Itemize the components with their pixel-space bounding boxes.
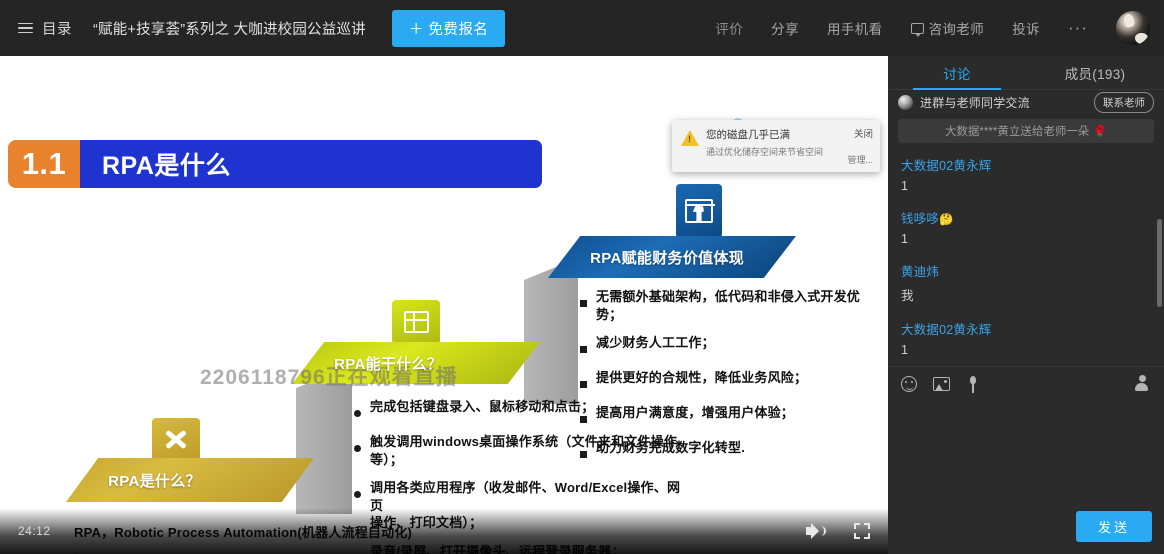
- contact-teacher-button[interactable]: 联系老师: [1094, 92, 1154, 113]
- chat-scrollbar[interactable]: [1157, 143, 1162, 366]
- bullet-text: 触发调用windows桌面操作系统（文件夹和文件操作等）；: [370, 433, 684, 468]
- free-signup-button[interactable]: ＋ 免费报名: [392, 10, 506, 47]
- ask-teacher-label: 咨询老师: [929, 18, 985, 38]
- toast-title: 您的磁盘几乎已满: [706, 127, 872, 142]
- toast-manage-button[interactable]: 管理...: [847, 153, 873, 166]
- message-author-name: 钱哆哆: [901, 212, 939, 226]
- chat-bubble-icon: [911, 23, 924, 34]
- bullet-text: 无需额外基础架构，低代码和非侵入式开发优势；: [596, 288, 880, 323]
- live-course-player-page: 目录 “赋能+技享荟”系列之 大咖进校园公益巡讲 ＋ 免费报名 评价 分享 用手…: [0, 0, 1164, 554]
- slide-title: 1.1 RPA是什么: [8, 140, 542, 188]
- top-bar-right: 评价 分享 用手机看 咨询老师 投诉 ···: [715, 11, 1150, 45]
- mention-icon[interactable]: [1134, 375, 1152, 393]
- building-icon-tile: [392, 300, 440, 344]
- bullet-text: 减少财务人工工作；: [596, 334, 715, 352]
- bullet-item: 完成包括键盘录入、鼠标移动和点击；: [354, 398, 684, 422]
- image-icon[interactable]: [932, 375, 950, 393]
- step-label: RPA是什么？: [66, 470, 201, 491]
- disk-full-toast[interactable]: 您的磁盘几乎已满 通过优化储存空间来节省空间 关闭 管理...: [672, 120, 880, 172]
- compose-footer: 发送: [900, 511, 1152, 542]
- message-input[interactable]: [900, 401, 1152, 511]
- tab-members[interactable]: 成员(193): [1026, 56, 1164, 89]
- top-bar-left: 目录 “赋能+技享荟”系列之 大咖进校园公益巡讲 ＋ 免费报名: [18, 10, 505, 47]
- bullet-text: 完成包括键盘录入、鼠标移动和点击；: [370, 398, 594, 416]
- mobile-view-link[interactable]: 用手机看: [827, 18, 883, 38]
- chat-panel: 讨论 成员(193) 进群与老师同学交流 联系老师 大数据****黄立送给老师一…: [888, 56, 1164, 554]
- upload-icon-tile: [676, 184, 722, 238]
- message-text: 1: [901, 343, 1151, 357]
- message-text: 1: [901, 232, 1151, 246]
- message-author: 黄迪炜: [901, 261, 1151, 280]
- gift-text: 大数据****黄立送给老师一朵: [945, 123, 1089, 139]
- complain-link[interactable]: 投诉: [1012, 18, 1040, 38]
- ask-teacher-link[interactable]: 咨询老师: [911, 18, 985, 38]
- avatar[interactable]: [1116, 11, 1150, 45]
- step-rpa-what: RPA是什么？: [66, 458, 314, 502]
- square-bullet-icon: [580, 375, 596, 393]
- video-stage[interactable]: 1.1 RPA是什么 RPA是什: [0, 56, 888, 554]
- rose-icon: 🌹: [1093, 125, 1107, 138]
- compose-toolbar: [900, 375, 1152, 393]
- message-author: 钱哆哆🤔: [901, 208, 1151, 227]
- send-button[interactable]: 发送: [1076, 511, 1152, 542]
- course-title: “赋能+技享荟”系列之 大咖进校园公益巡讲: [93, 18, 366, 39]
- catalog-button[interactable]: 目录: [42, 18, 72, 39]
- list-item: 大数据02黄永辉 1: [901, 155, 1151, 193]
- bullet-item: 触发调用windows桌面操作系统（文件夹和文件操作等）；: [354, 433, 684, 468]
- elapsed-time: 24:12: [18, 524, 51, 538]
- compose-area: 发送: [888, 366, 1164, 554]
- thinking-emoji-icon: 🤔: [939, 214, 954, 226]
- warning-icon: [681, 130, 699, 146]
- fullscreen-icon[interactable]: [854, 523, 870, 539]
- emoji-icon[interactable]: [900, 375, 918, 393]
- chat-tabs: 讨论 成员(193): [888, 56, 1164, 90]
- building-icon: [404, 311, 429, 333]
- share-link[interactable]: 分享: [771, 18, 799, 38]
- compose-input-wrap: [900, 401, 1152, 511]
- step-label: RPA能干什么？: [292, 353, 442, 374]
- list-item: 黄迪炜 我: [901, 261, 1151, 304]
- list-item: 大数据02黄永辉 1: [901, 319, 1151, 357]
- volume-icon[interactable]: [806, 523, 826, 539]
- gift-icon[interactable]: [964, 375, 982, 393]
- join-group-bar: 进群与老师同学交流 联系老师: [888, 90, 1164, 114]
- message-author: 大数据02黄永辉: [901, 319, 1151, 338]
- list-item: 钱哆哆🤔 1: [901, 208, 1151, 246]
- step-label: RPA赋能财务价值体现: [548, 247, 744, 268]
- more-options-icon[interactable]: ···: [1068, 23, 1088, 33]
- player-controls-right: [806, 523, 870, 539]
- round-bullet-icon: [354, 485, 370, 503]
- teacher-avatar-icon: [898, 95, 913, 110]
- bullet-item: 减少财务人工工作；: [580, 334, 880, 358]
- content-row: 1.1 RPA是什么 RPA是什: [0, 56, 1164, 554]
- tools-icon: [163, 428, 189, 452]
- top-bar: 目录 “赋能+技享荟”系列之 大咖进校园公益巡讲 ＋ 免费报名 评价 分享 用手…: [0, 0, 1164, 56]
- rate-link[interactable]: 评价: [715, 18, 743, 38]
- tools-icon-tile: [152, 418, 200, 462]
- gift-notification: 大数据****黄立送给老师一朵 🌹: [898, 119, 1154, 143]
- round-bullet-icon: [354, 439, 370, 457]
- square-bullet-icon: [580, 294, 596, 312]
- player-controls: 24:12: [0, 508, 888, 554]
- message-list[interactable]: 大数据02黄永辉 1 钱哆哆🤔 1 黄迪炜 我 大数据02黄永辉 1: [888, 143, 1164, 366]
- slide-title-text: RPA是什么: [80, 140, 542, 188]
- scrollbar-thumb[interactable]: [1157, 219, 1162, 307]
- message-author: 大数据02黄永辉: [901, 155, 1151, 174]
- upload-window-icon: [685, 199, 713, 223]
- square-bullet-icon: [580, 340, 596, 358]
- message-text: 1: [901, 179, 1151, 193]
- tab-discussion[interactable]: 讨论: [888, 56, 1026, 89]
- bullet-item: 无需额外基础架构，低代码和非侵入式开发优势；: [580, 288, 880, 323]
- join-group-text: 进群与老师同学交流: [920, 94, 1087, 111]
- hamburger-icon[interactable]: [18, 23, 33, 34]
- step-rpa-can-do: RPA能干什么？: [292, 342, 540, 384]
- slide-title-number: 1.1: [8, 140, 80, 188]
- bullet-item: 提供更好的合规性，降低业务风险；: [580, 369, 880, 393]
- round-bullet-icon: [354, 404, 370, 422]
- step-rpa-finance-value: RPA赋能财务价值体现: [548, 236, 796, 278]
- bullet-text: 提供更好的合规性，降低业务风险；: [596, 369, 807, 387]
- message-text: 我: [901, 285, 1151, 304]
- toast-close-button[interactable]: 关闭: [854, 126, 873, 140]
